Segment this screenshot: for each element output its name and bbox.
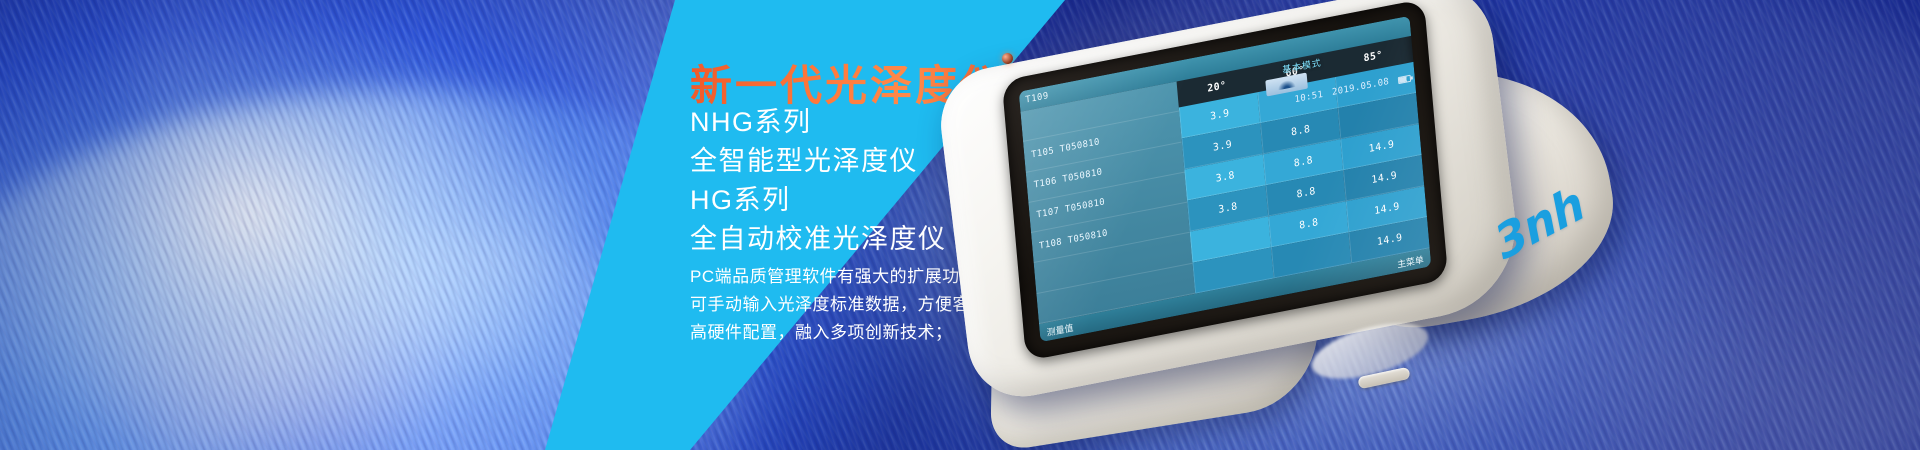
screen-sample-title: T109 [1025, 91, 1049, 106]
battery-icon [1398, 74, 1411, 83]
main-menu-button[interactable]: 主菜单 [1397, 252, 1425, 270]
product-banner: 新一代光泽度仪 NHG系列 全智能型光泽度仪 HG系列 全自动校准光泽度仪 PC… [0, 0, 1920, 450]
measure-button[interactable]: 测量值 [1046, 320, 1074, 338]
subtitle-line-3: HG系列 [690, 178, 791, 217]
subtitle-line-1: NHG系列 [690, 100, 812, 139]
screen-sample-list[interactable]: T105 T050810 T106 T050810 T107 T050810 T… [1020, 81, 1195, 324]
gloss-meter-device: T109 T105 T050810 T106 T050810 T107 T050… [880, 10, 1680, 440]
status-time: 10:51 [1294, 90, 1323, 106]
